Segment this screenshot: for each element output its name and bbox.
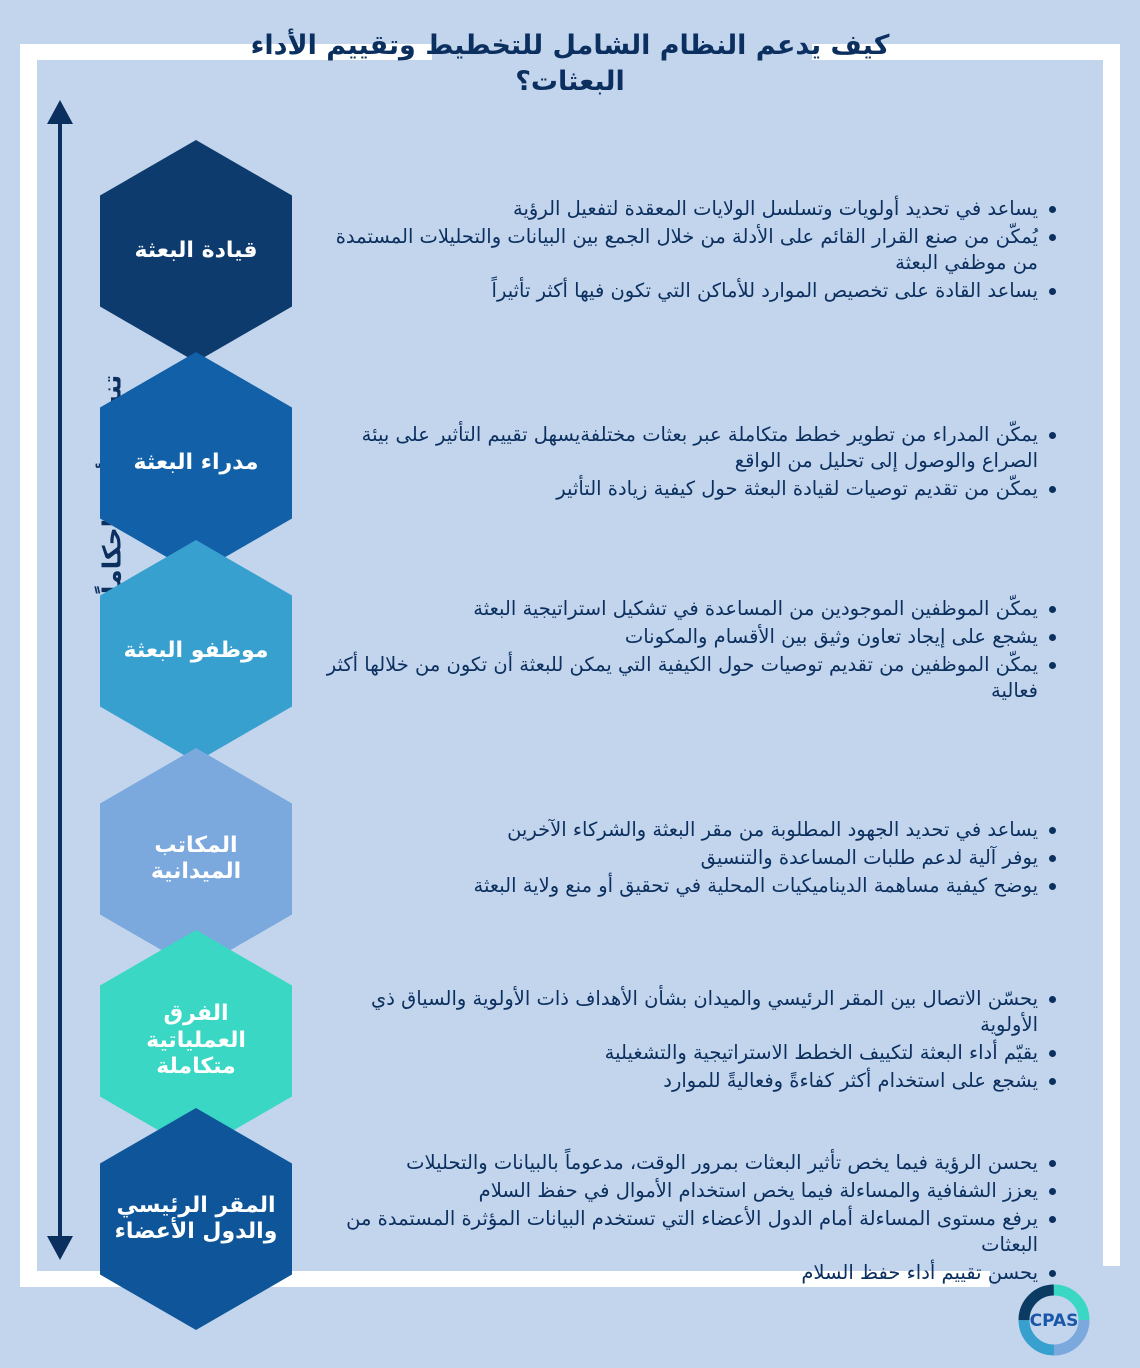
frame-border-left bbox=[20, 44, 37, 1287]
hexagon-label: قيادة البعثة bbox=[124, 238, 267, 264]
coordination-axis-arrow bbox=[44, 100, 76, 1260]
arrow-down-icon bbox=[47, 1236, 73, 1260]
bullet-item: يساعد في تحديد الجهود المطلوبة من مقر ال… bbox=[316, 817, 1060, 843]
infographic-row: يحسن الرؤية فيما يخص تأثير البعثات بمرور… bbox=[100, 1108, 1100, 1330]
bullet-item: يحسن تقييم أداء حفظ السلام bbox=[316, 1260, 1060, 1286]
bullet-item: يوفر آلية لدعم طلبات المساعدة والتنسيق bbox=[316, 845, 1060, 871]
cpas-logo: CPAS bbox=[1012, 1278, 1096, 1362]
bullet-list: يمكّن الموظفين الموجودين من المساعدة في … bbox=[298, 596, 1100, 707]
bullet-item: يمكّن من تقديم توصيات لقيادة البعثة حول … bbox=[316, 476, 1060, 502]
hexagon-label: موظفو البعثة bbox=[114, 638, 279, 664]
bullet-item: يرفع مستوى المساءلة أمام الدول الأعضاء ا… bbox=[316, 1206, 1060, 1258]
infographic-row: يمكّن الموظفين الموجودين من المساعدة في … bbox=[100, 540, 1100, 762]
bullet-item: يشجع على استخدام أكثر كفاءةً وفعاليةً لل… bbox=[316, 1068, 1060, 1094]
bullet-item: يمكّن المدراء من تطوير خطط متكاملة عبر ب… bbox=[316, 422, 1060, 474]
hexagon-label: مدراء البعثة bbox=[124, 450, 269, 476]
hexagon-label: الفرق العملياتية متكاملة bbox=[100, 1001, 292, 1080]
bullet-item: يساعد في تحديد أولويات وتسلسل الولايات ا… bbox=[316, 196, 1060, 222]
frame-border-right bbox=[1103, 44, 1120, 1266]
arrow-shaft bbox=[58, 114, 62, 1246]
infographic-row: يساعد في تحديد أولويات وتسلسل الولايات ا… bbox=[100, 140, 1100, 362]
bullet-item: يحسّن الاتصال بين المقر الرئيسي والميدان… bbox=[316, 986, 1060, 1038]
bullet-item: يمكّن الموظفين الموجودين من المساعدة في … bbox=[316, 596, 1060, 622]
bullet-item: يعزز الشفافية والمساءلة فيما يخص استخدام… bbox=[316, 1178, 1060, 1204]
hexagon-stakeholder: المقر الرئيسي والدول الأعضاء bbox=[100, 1108, 292, 1330]
bullet-list: يساعد في تحديد أولويات وتسلسل الولايات ا… bbox=[298, 196, 1100, 307]
bullet-item: يمكّن الموظفين من تقديم توصيات حول الكيف… bbox=[316, 652, 1060, 704]
hexagon-label: المقر الرئيسي والدول الأعضاء bbox=[100, 1193, 292, 1246]
hexagon-stakeholder: قيادة البعثة bbox=[100, 140, 292, 362]
bullet-list: يحسّن الاتصال بين المقر الرئيسي والميدان… bbox=[298, 986, 1100, 1097]
bullet-item: يقيّم أداء البعثة لتكييف الخطط الاستراتي… bbox=[316, 1040, 1060, 1066]
logo-label: CPAS bbox=[1030, 1311, 1079, 1331]
bullet-list: يساعد في تحديد الجهود المطلوبة من مقر ال… bbox=[298, 817, 1100, 901]
hexagon-stakeholder: موظفو البعثة bbox=[100, 540, 292, 762]
bullet-list: يحسن الرؤية فيما يخص تأثير البعثات بمرور… bbox=[298, 1150, 1100, 1289]
bullet-item: يحسن الرؤية فيما يخص تأثير البعثات بمرور… bbox=[316, 1150, 1060, 1176]
bullet-item: يشجع على إيجاد تعاون وثيق بين الأقسام وا… bbox=[316, 624, 1060, 650]
page-title: كيف يدعم النظام الشامل للتخطيط وتقييم ال… bbox=[200, 28, 940, 99]
bullet-list: يمكّن المدراء من تطوير خطط متكاملة عبر ب… bbox=[298, 422, 1100, 504]
bullet-item: يوضح كيفية مساهمة الديناميكيات المحلية ف… bbox=[316, 873, 1060, 899]
bullet-item: يساعد القادة على تخصيص الموارد للأماكن ا… bbox=[316, 278, 1060, 304]
hexagon-label: المكاتب الميدانية bbox=[100, 833, 292, 886]
bullet-item: يُمكّن من صنع القرار القائم على الأدلة م… bbox=[316, 224, 1060, 276]
